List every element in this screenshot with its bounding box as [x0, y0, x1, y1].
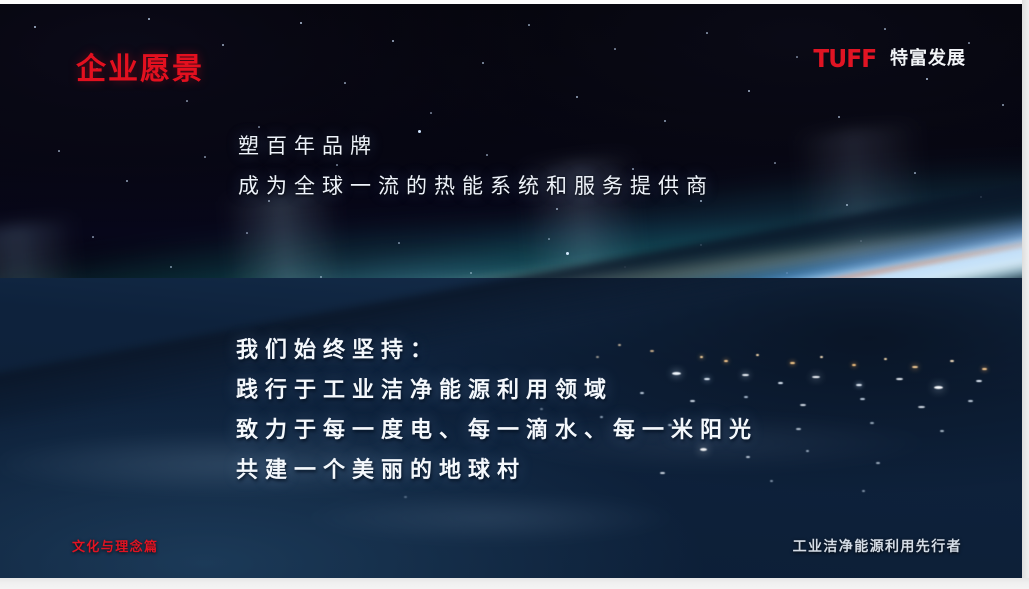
- footer-section-label: 文化与理念篇: [72, 536, 158, 555]
- vision-line: 塑百年品牌: [238, 126, 714, 166]
- creed-line: 共建一个美丽的地球村: [236, 451, 758, 491]
- creed-line: 践行于工业洁净能源利用领域: [236, 371, 758, 411]
- slide-background-photo: [0, 4, 1022, 578]
- creed-statement-block: 我们始终坚持： 践行于工业洁净能源利用领域 致力于每一度电、每一滴水、每一米阳光…: [236, 331, 758, 491]
- page-title: 企业愿景: [76, 44, 204, 88]
- frame-right-edge: [1022, 0, 1029, 589]
- footer-tagline: 工业洁净能源利用先行者: [793, 536, 962, 556]
- creed-line: 我们始终坚持：: [236, 331, 758, 371]
- creed-line: 致力于每一度电、每一滴水、每一米阳光: [236, 411, 758, 451]
- frame-bottom-edge: [0, 578, 1029, 589]
- logo-chinese-name: 特富发展: [890, 50, 966, 68]
- vision-line: 成为全球一流的热能系统和服务提供商: [238, 166, 714, 206]
- city-lights: [0, 4, 1022, 578]
- brand-logo: TUFF 特富发展: [811, 46, 966, 71]
- presentation-slide: 企业愿景 TUFF 特富发展 塑百年品牌 成为全球一流的热能系统和服务提供商 我…: [0, 0, 1029, 589]
- logo-wordmark: TUFF: [814, 46, 877, 71]
- frame-top-edge: [0, 0, 1029, 4]
- vision-statement-block: 塑百年品牌 成为全球一流的热能系统和服务提供商: [238, 126, 714, 206]
